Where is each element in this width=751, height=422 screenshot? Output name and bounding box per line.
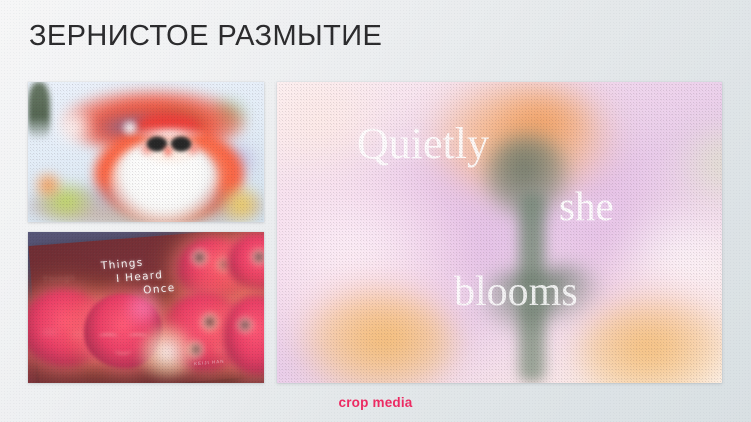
book-blob-edge-top (228, 234, 264, 290)
santa-yellow-blob (218, 182, 264, 222)
bloom-word-quietly: Quietly (357, 122, 489, 166)
slide-canvas: ЗЕРНИСТОЕ РАЗМЫТИЕ Things (0, 0, 751, 422)
gallery-image-summer-santa[interactable] (28, 82, 264, 222)
santa-flower (30, 170, 66, 200)
santa-sun-glow (50, 104, 96, 150)
santa-hat-pompom (120, 118, 140, 138)
bloom-word-blooms: blooms (454, 271, 578, 313)
book-blob-edge-right (224, 296, 264, 374)
gallery-image-quietly-she-blooms[interactable]: Quietly she blooms (277, 82, 722, 383)
gallery-image-book-covers[interactable]: ThingsI HeardOnce (28, 232, 264, 383)
bloom-word-she: she (559, 186, 614, 227)
santa-bottle (28, 82, 50, 140)
book-highlight-glow (136, 324, 198, 380)
santa-nose (162, 144, 174, 158)
footer-brand: crop media (0, 395, 751, 410)
page-title: ЗЕРНИСТОЕ РАЗМЫТИЕ (29, 20, 382, 53)
